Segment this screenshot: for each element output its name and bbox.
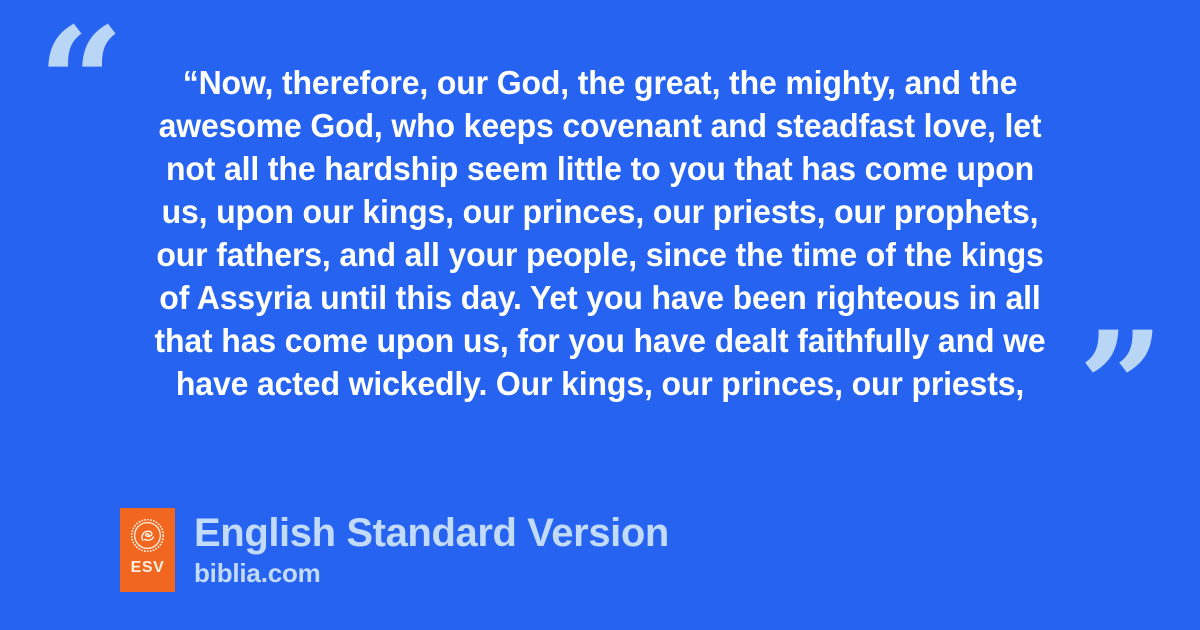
quote-card: “ ” “Now, therefore, our God, the great,…: [0, 0, 1200, 630]
close-quote-icon: ”: [1078, 312, 1164, 462]
quote-line: have acted wickedly. Our kings, our prin…: [132, 363, 1068, 406]
attribution-text-group: English Standard Version biblia.com: [194, 508, 669, 589]
esv-abbreviation-label: ESV: [131, 560, 165, 576]
quote-line: of Assyria until this day. Yet you have …: [132, 277, 1068, 320]
quote-line: that has come upon us, for you have deal…: [132, 320, 1068, 363]
quote-line: awesome God, who keeps covenant and stea…: [132, 105, 1068, 148]
bible-version-name: English Standard Version: [194, 510, 669, 557]
quote-line: “Now, therefore, our God, the great, the…: [132, 62, 1068, 105]
attribution-footer: ESV English Standard Version biblia.com: [120, 508, 669, 592]
source-site-name: biblia.com: [194, 558, 669, 589]
quote-line: us, upon our kings, our princes, our pri…: [132, 191, 1068, 234]
quote-line: not all the hardship seem little to you …: [132, 148, 1068, 191]
scripture-quote: “Now, therefore, our God, the great, the…: [110, 62, 1090, 406]
esv-logo-badge: ESV: [120, 508, 175, 592]
quote-line: our fathers, and all your people, since …: [132, 234, 1068, 277]
seal-emblem-icon: [131, 519, 164, 552]
